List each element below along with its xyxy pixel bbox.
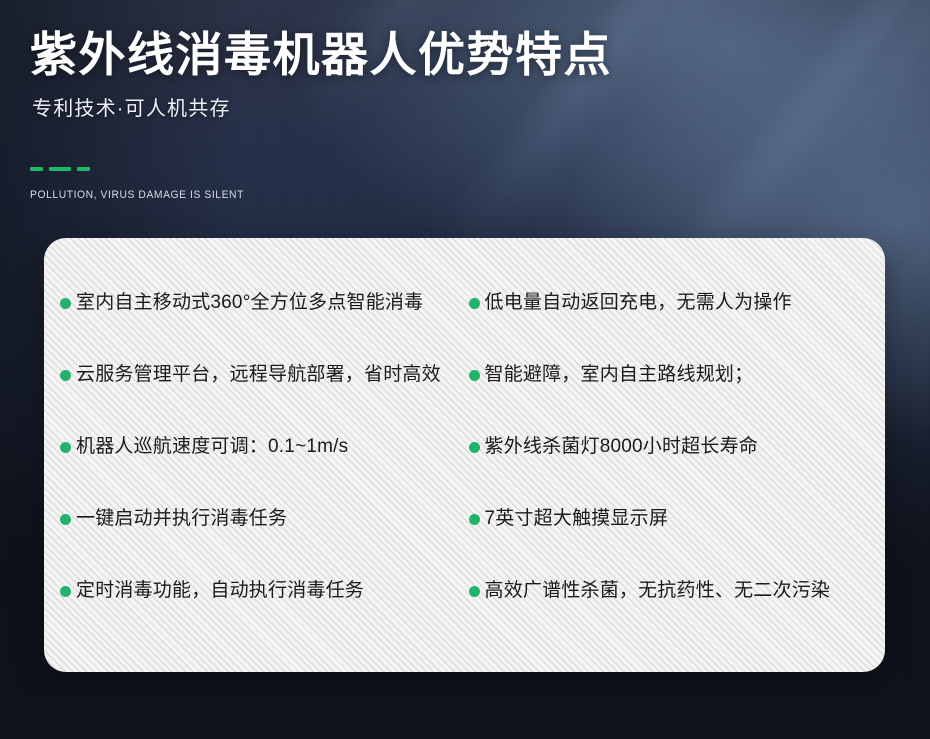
page-subtitle: 专利技术·可人机共存 (32, 96, 730, 122)
list-item: 一键启动并执行消毒任务 (60, 506, 465, 578)
list-item: 云服务管理平台，远程导航部署，省时高效 (60, 362, 465, 434)
dash-icon-3 (77, 167, 90, 171)
bullet-icon (469, 586, 480, 597)
bullet-icon (60, 442, 71, 453)
feature-label: 一键启动并执行消毒任务 (76, 506, 287, 532)
list-item: 高效广谱性杀菌，无抗药性、无二次污染 (469, 578, 886, 650)
bullet-icon (60, 298, 71, 309)
bullet-icon (469, 298, 480, 309)
list-item: 定时消毒功能，自动执行消毒任务 (60, 578, 465, 650)
bullet-icon (469, 442, 480, 453)
bullet-icon (469, 514, 480, 525)
banner-header: 紫外线消毒机器人优势特点 专利技术·可人机共存 (30, 26, 730, 122)
list-item: 紫外线杀菌灯8000小时超长寿命 (469, 434, 886, 506)
feature-label: 室内自主移动式360°全方位多点智能消毒 (76, 290, 423, 316)
eyebrow-tagline: POLLUTION, VIRUS DAMAGE IS SILENT (30, 187, 244, 203)
feature-label: 云服务管理平台，远程导航部署，省时高效 (76, 362, 441, 388)
list-item: 室内自主移动式360°全方位多点智能消毒 (60, 290, 465, 362)
bullet-icon (60, 586, 71, 597)
dash-icon-2 (49, 167, 71, 171)
bullet-icon (469, 370, 480, 381)
bullet-icon (60, 514, 71, 525)
page-title: 紫外线消毒机器人优势特点 (30, 26, 730, 84)
feature-label: 7英寸超大触摸显示屏 (485, 506, 669, 532)
feature-label: 智能避障，室内自主路线规划； (485, 362, 754, 388)
feature-label: 低电量自动返回充电，无需人为操作 (485, 290, 792, 316)
decorative-dashes (30, 167, 90, 171)
feature-label: 定时消毒功能，自动执行消毒任务 (76, 578, 364, 604)
feature-label: 紫外线杀菌灯8000小时超长寿命 (485, 434, 758, 460)
feature-label: 高效广谱性杀菌，无抗药性、无二次污染 (485, 578, 831, 604)
feature-card: 室内自主移动式360°全方位多点智能消毒 云服务管理平台，远程导航部署，省时高效… (44, 238, 885, 672)
feature-label: 机器人巡航速度可调：0.1~1m/s (76, 434, 348, 460)
list-item: 低电量自动返回充电，无需人为操作 (469, 290, 886, 362)
feature-column-left: 室内自主移动式360°全方位多点智能消毒 云服务管理平台，远程导航部署，省时高效… (44, 290, 465, 672)
product-feature-banner: 紫外线消毒机器人优势特点 专利技术·可人机共存 POLLUTION, VIRUS… (0, 0, 930, 739)
list-item: 7英寸超大触摸显示屏 (469, 506, 886, 578)
list-item: 智能避障，室内自主路线规划； (469, 362, 886, 434)
feature-column-right: 低电量自动返回充电，无需人为操作 智能避障，室内自主路线规划； 紫外线杀菌灯80… (465, 290, 886, 672)
bullet-icon (60, 370, 71, 381)
feature-card-content: 室内自主移动式360°全方位多点智能消毒 云服务管理平台，远程导航部署，省时高效… (44, 238, 885, 672)
dash-icon-1 (30, 167, 43, 171)
list-item: 机器人巡航速度可调：0.1~1m/s (60, 434, 465, 506)
